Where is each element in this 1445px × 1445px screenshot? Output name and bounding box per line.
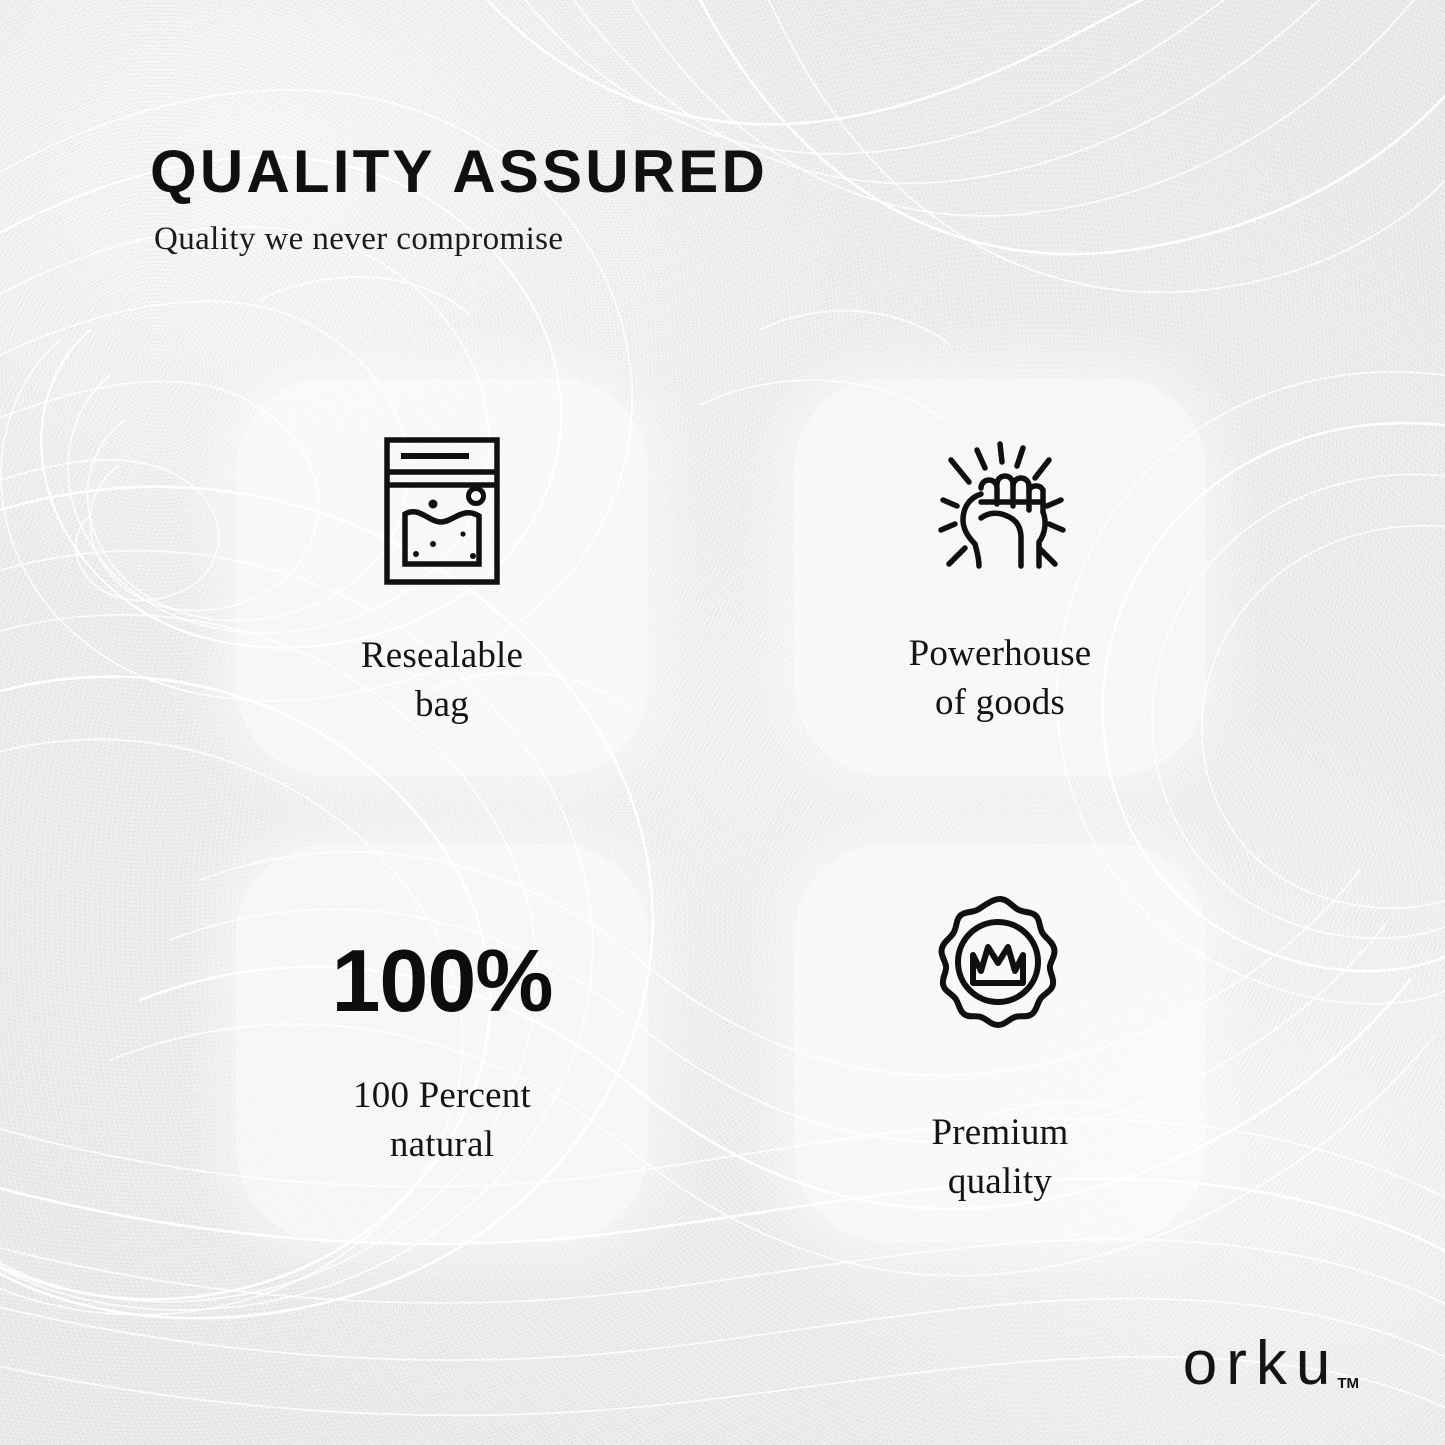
feature-label-percent: 100 Percent natural xyxy=(353,1071,531,1169)
feature-label-line2: bag xyxy=(415,684,469,725)
hundred-percent-text: 100% xyxy=(331,917,552,1045)
feature-card-premium: Premium quality xyxy=(794,844,1206,1242)
feature-label-resealable: Resealable bag xyxy=(361,631,523,729)
feature-label-line1: Powerhouse xyxy=(909,633,1092,674)
feature-grid: Resealable bag xyxy=(236,378,1206,1258)
feature-label-line2: of goods xyxy=(935,682,1065,723)
feature-card-powerhouse: Powerhouse of goods xyxy=(794,378,1206,776)
feature-label-line2: quality xyxy=(948,1161,1052,1202)
crown-badge-icon xyxy=(925,880,1075,1052)
resealable-bag-icon xyxy=(383,425,501,597)
page-title: QUALITY ASSURED xyxy=(150,140,1050,203)
percent-value: 100% xyxy=(331,937,552,1025)
quality-assured-poster: QUALITY ASSURED Quality we never comprom… xyxy=(0,0,1445,1445)
trademark-symbol: TM xyxy=(1337,1376,1359,1391)
feature-label-premium: Premium quality xyxy=(931,1108,1068,1206)
feature-label-line1: Resealable xyxy=(361,635,523,676)
page-subtitle: Quality we never compromise xyxy=(154,221,1050,257)
feature-label-line1: 100 Percent xyxy=(353,1075,531,1116)
feature-label-line2: natural xyxy=(390,1124,494,1165)
raised-fist-icon xyxy=(925,427,1075,599)
feature-label-line1: Premium xyxy=(931,1112,1068,1153)
brand-name: orku xyxy=(1183,1333,1340,1395)
brand-logo: orku TM xyxy=(1183,1333,1359,1395)
feature-label-powerhouse: Powerhouse of goods xyxy=(909,629,1092,727)
header: QUALITY ASSURED Quality we never comprom… xyxy=(150,140,1050,257)
feature-card-percent: 100% 100 Percent natural xyxy=(236,844,648,1242)
feature-card-resealable: Resealable bag xyxy=(236,378,648,776)
